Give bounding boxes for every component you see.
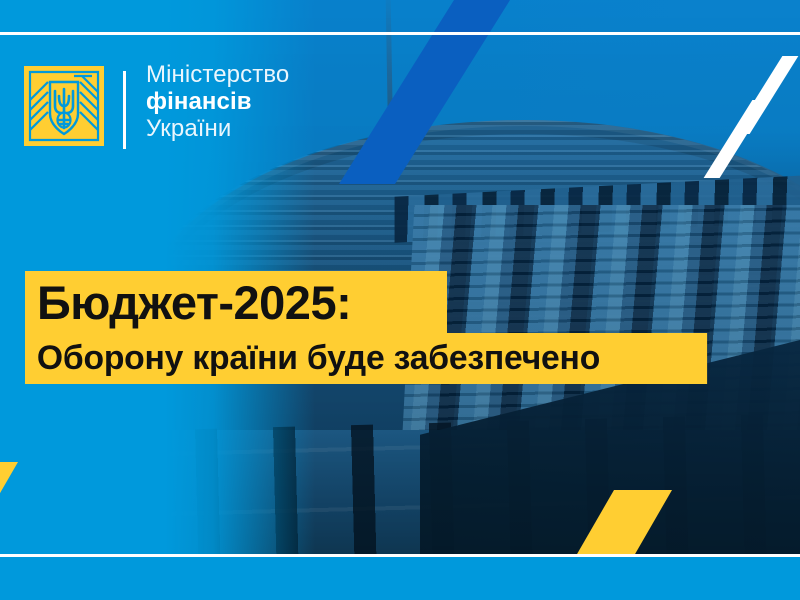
headline-line-1: Бюджет-2025:: [25, 271, 447, 333]
ministry-logo[interactable]: Міністерство фінансів України: [24, 66, 104, 146]
headline-line-2: Оборону країни буде забезпечено: [25, 333, 707, 384]
top-divider-rule: [0, 32, 800, 35]
logo-line-ministry: Міністерство: [146, 62, 289, 89]
logo-line-ukraine: України: [146, 116, 289, 143]
yellow-diagonal-stripe-bottom-left: [0, 462, 18, 558]
bottom-divider-rule: [0, 554, 800, 557]
logo-line-finance: фінансів: [146, 89, 289, 116]
ukraine-trident-icon: [24, 66, 104, 146]
poster-canvas: Міністерство фінансів України Бюджет-202…: [0, 0, 800, 600]
logo-wordmark: Міністерство фінансів України: [146, 62, 289, 143]
headline-block: Бюджет-2025: Оборону країни буде забезпе…: [25, 271, 714, 384]
logo-divider-bar: [123, 71, 126, 149]
bottom-blue-band: [0, 557, 800, 600]
white-chevron-icon: [724, 56, 794, 178]
